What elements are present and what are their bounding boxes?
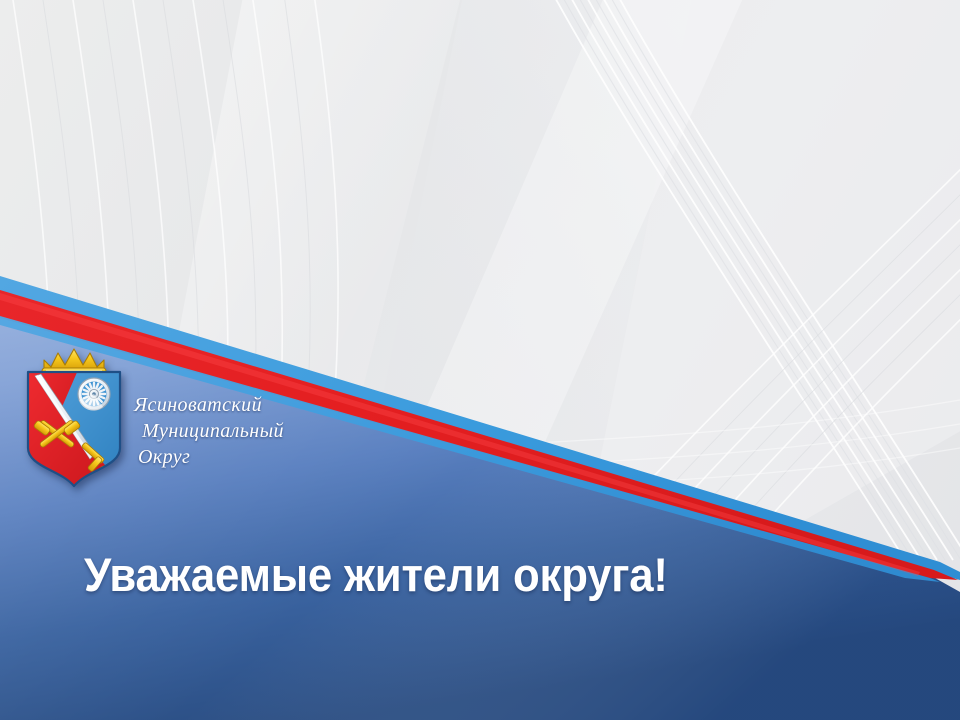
wordmark-line-1: Ясиноватский	[134, 392, 364, 418]
wordmark-line-2: Муниципальный	[134, 418, 364, 444]
wordmark-line-3: Округ	[134, 444, 364, 470]
shield-icon	[26, 370, 124, 490]
presentation-slide: Ясиноватский Муниципальный Округ Уважаем…	[0, 0, 960, 720]
railway-wheel-icon	[78, 378, 110, 411]
emblem-wordmark: Ясиноватский Муниципальный Округ	[134, 392, 364, 470]
slide-headline: Уважаемые жители округа!	[84, 551, 668, 598]
coat-of-arms-emblem	[18, 336, 130, 496]
diagonal-tricolour-ribbon	[0, 0, 960, 720]
